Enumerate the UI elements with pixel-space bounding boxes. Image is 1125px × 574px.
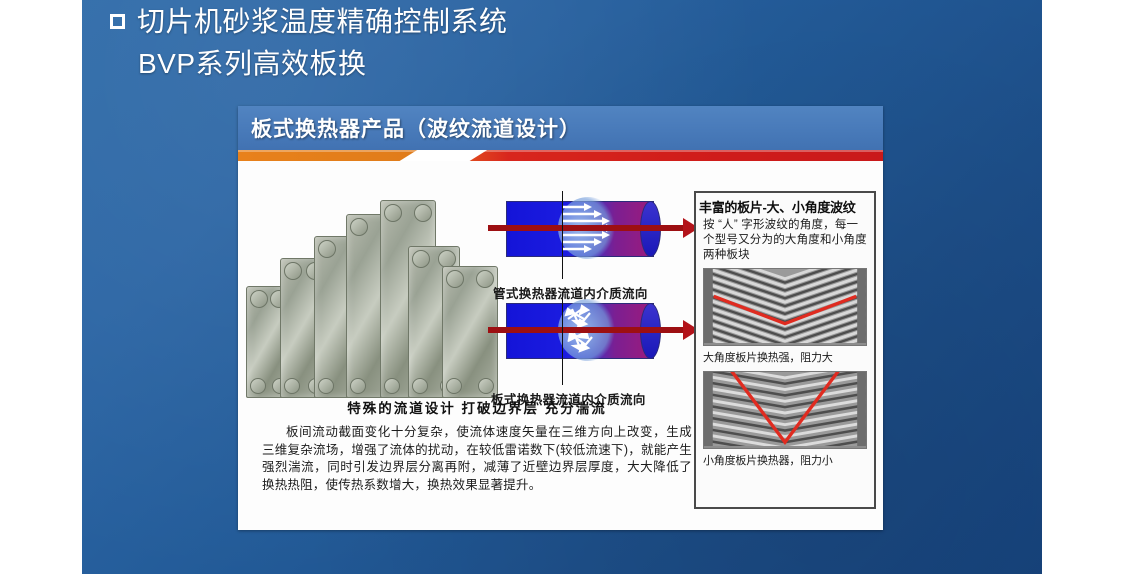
image-body: 管式换热器流道内介质流向 [238, 161, 883, 530]
laminar-flow-diagram [506, 201, 706, 261]
orange-red-stripe [238, 150, 883, 161]
explanation-paragraph: 板间流动截面变化十分复杂，使流体速度矢量在三维方向上改变，生成三维复杂流场，增强… [262, 424, 692, 494]
flow-direction-arrow-lower [488, 327, 684, 333]
panel-title: 丰富的板片-大、小角度波纹 [699, 197, 871, 216]
large-angle-caption: 大角度板片换热强，阻力大 [703, 349, 867, 365]
small-angle-pattern-icon [704, 372, 866, 446]
large-angle-pattern-icon [704, 269, 866, 343]
plate-stack-photo [246, 193, 496, 398]
presentation-slide: 切片机砂浆温度精确控制系统 BVP系列高效板换 板式换热器产品（波纹流道设计） [82, 0, 1042, 574]
laminar-flow-label: 管式换热器流道内介质流向 [493, 283, 648, 302]
image-header-title: 板式换热器产品（波纹流道设计） [251, 113, 581, 143]
plate-corrugation-panel: 丰富的板片-大、小角度波纹 按 “人” 字形波纹的角度，每一个型号又分为的大角度… [694, 191, 876, 509]
slide-canvas: 切片机砂浆温度精确控制系统 BVP系列高效板换 板式换热器产品（波纹流道设计） [0, 0, 1125, 574]
page-title: 切片机砂浆温度精确控制系统 [137, 2, 508, 42]
flow-direction-arrow-upper [488, 225, 684, 231]
small-angle-chevron-image [703, 371, 867, 449]
explanation-heading: 特殊的流道设计 打破边界层 充分湍流 [262, 397, 692, 417]
small-angle-caption: 小角度板片换热器，阻力小 [703, 452, 867, 468]
center-reference-line-upper [562, 191, 563, 279]
turbulent-flow-diagram [506, 303, 706, 363]
center-reference-line-lower [562, 293, 563, 385]
slide-subtitle: BVP系列高效板换 [138, 44, 830, 84]
product-image: 板式换热器产品（波纹流道设计） [238, 106, 883, 530]
explanation-block: 特殊的流道设计 打破边界层 充分湍流 板间流动截面变化十分复杂，使流体速度矢量在… [262, 397, 692, 494]
panel-description: 按 “人” 字形波纹的角度，每一个型号又分为的大角度和小角度两种板块 [703, 218, 867, 263]
large-angle-chevron-image [703, 268, 867, 346]
image-header-bar: 板式换热器产品（波纹流道设计） [238, 106, 883, 150]
slide-title-block: 切片机砂浆温度精确控制系统 BVP系列高效板换 [110, 2, 830, 84]
slide-title-line-1: 切片机砂浆温度精确控制系统 [110, 2, 830, 42]
square-bullet-icon [110, 14, 125, 29]
